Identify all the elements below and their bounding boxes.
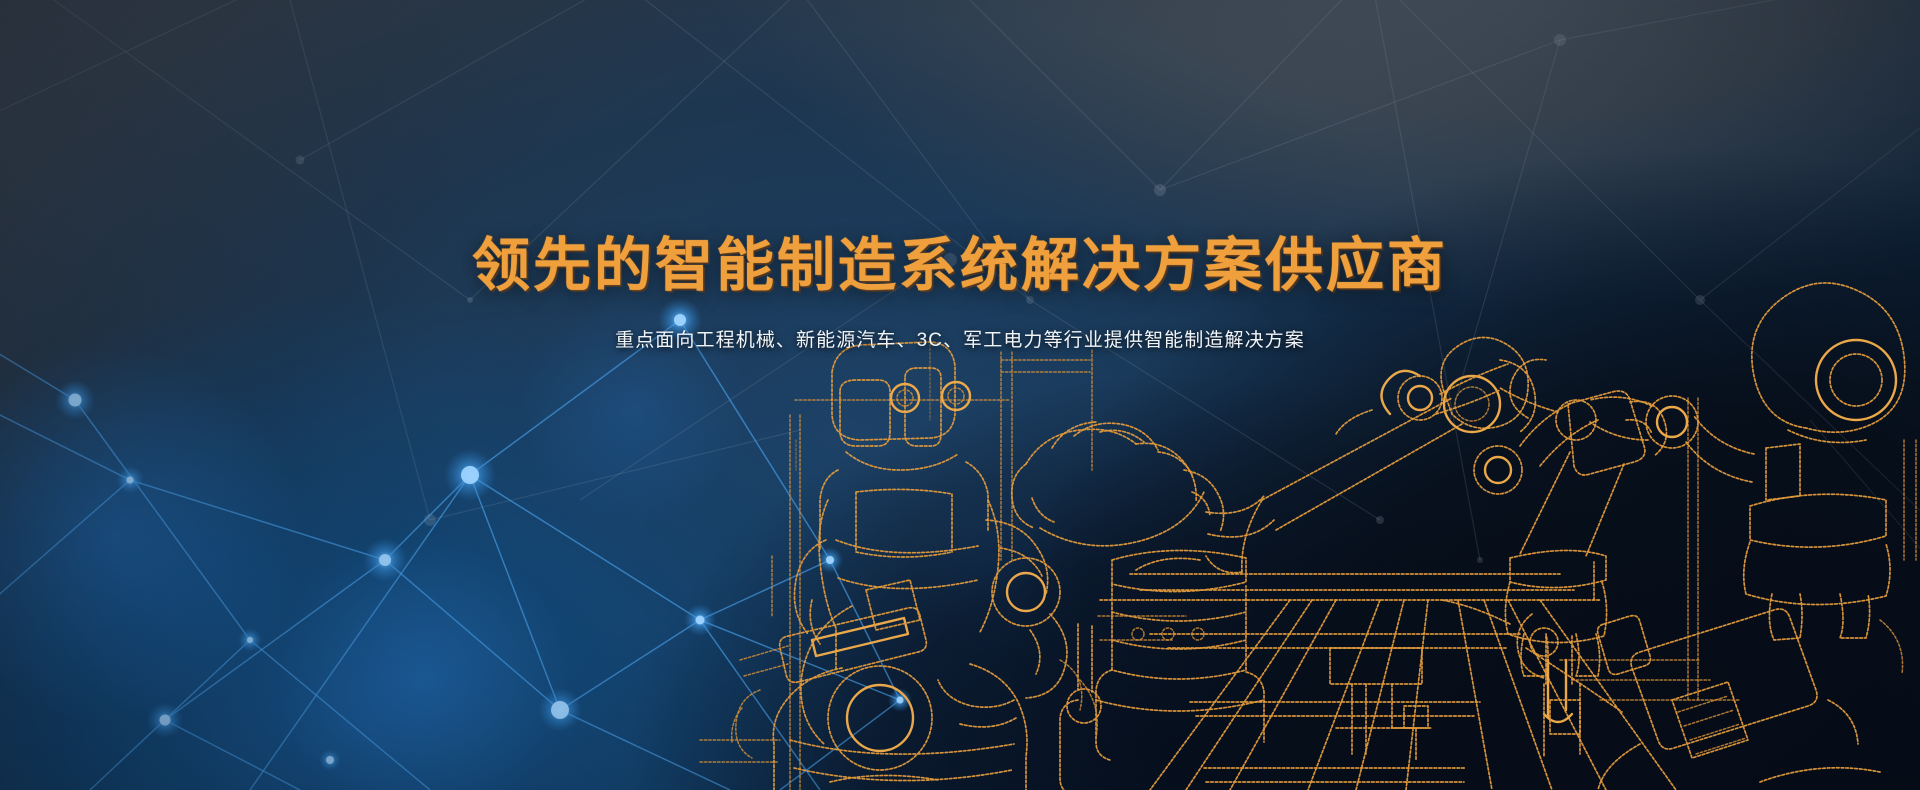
- robot-humanoid-left: [740, 342, 1101, 790]
- robot-humanoid-right: [1442, 283, 1905, 790]
- machinery-left-edge: [700, 556, 780, 762]
- robot-arm-pedestal-right: [1474, 359, 1666, 756]
- robot-base-cylinder: [1096, 550, 1264, 760]
- robot-arm-hand-center: [1012, 337, 1536, 572]
- industrial-robots-illustration: [0, 0, 1920, 790]
- stand-right-edge: [1904, 440, 1916, 560]
- page-subtitle: 重点面向工程机械、新能源汽车、3C、军工电力等行业提供智能制造解决方案: [0, 325, 1920, 352]
- robot-arm-slim-right: [1336, 364, 1508, 434]
- page-title: 领先的智能制造系统解决方案供应商: [0, 236, 1920, 297]
- conveyor-track: [1060, 574, 1740, 790]
- hero-banner: 领先的智能制造系统解决方案供应商 重点面向工程机械、新能源汽车、3C、军工电力等…: [0, 0, 1920, 790]
- hero-text-block: 领先的智能制造系统解决方案供应商 重点面向工程机械、新能源汽车、3C、军工电力等…: [0, 236, 1920, 352]
